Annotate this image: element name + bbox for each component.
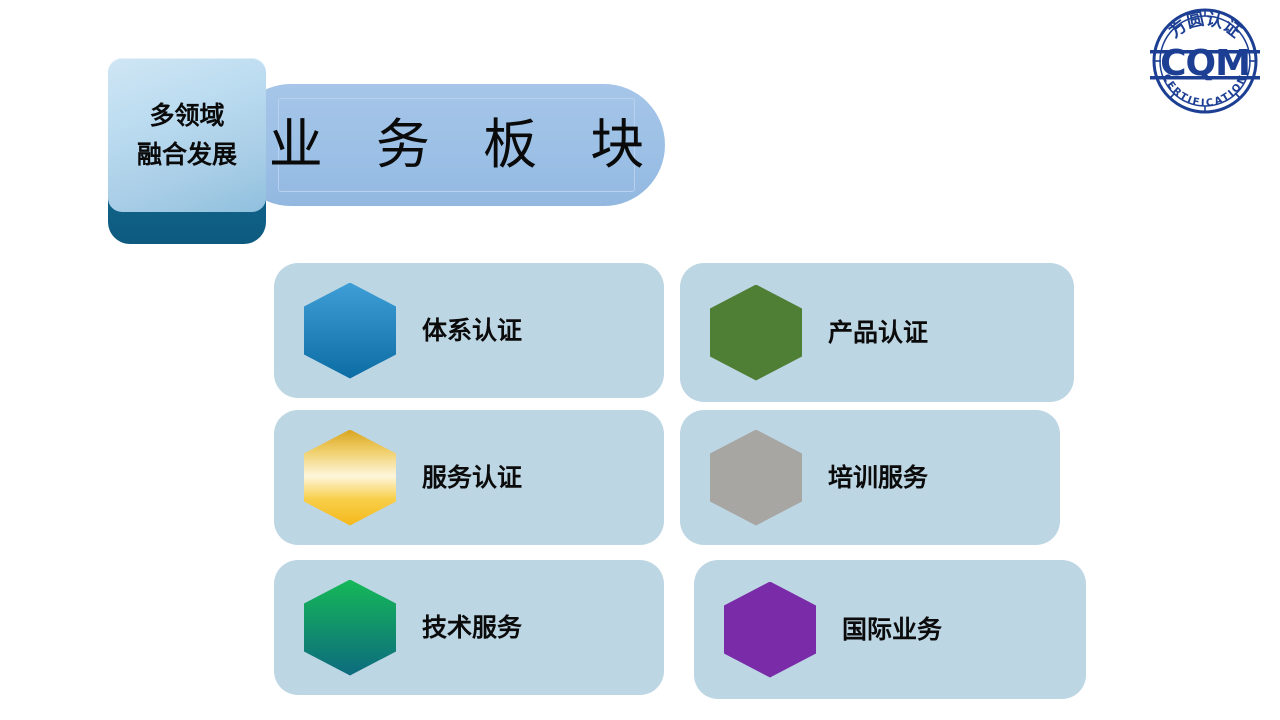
slide-root: 业 务 板 块 多领域 融合发展 [0,0,1280,720]
hexagon-icon-wrap [710,285,802,381]
sector-card-label: 体系认证 [422,318,522,343]
hexagon-icon [304,580,396,676]
business-sectors-grid: 体系认证 产品认证 服务认证 培训服务 技术服务 [0,0,1280,720]
hexagon-icon-wrap [304,430,396,526]
sector-card-3[interactable]: 培训服务 [680,410,1060,545]
sector-card-label: 服务认证 [422,465,522,490]
sector-card-0[interactable]: 体系认证 [274,263,664,398]
hexagon-icon [710,285,802,381]
hexagon-icon [724,582,816,678]
hexagon-icon-wrap [304,580,396,676]
hexagon-icon-wrap [304,283,396,379]
sector-card-label: 技术服务 [422,615,522,640]
hexagon-icon [304,430,396,526]
sector-card-4[interactable]: 技术服务 [274,560,664,695]
sector-card-1[interactable]: 产品认证 [680,263,1074,402]
sector-card-label: 国际业务 [842,617,942,642]
sector-card-label: 产品认证 [828,320,928,345]
sector-card-2[interactable]: 服务认证 [274,410,664,545]
sector-card-label: 培训服务 [828,465,928,490]
sector-card-5[interactable]: 国际业务 [694,560,1086,699]
hexagon-icon [710,430,802,526]
hexagon-icon-wrap [710,430,802,526]
hexagon-icon [304,283,396,379]
hexagon-icon-wrap [724,582,816,678]
